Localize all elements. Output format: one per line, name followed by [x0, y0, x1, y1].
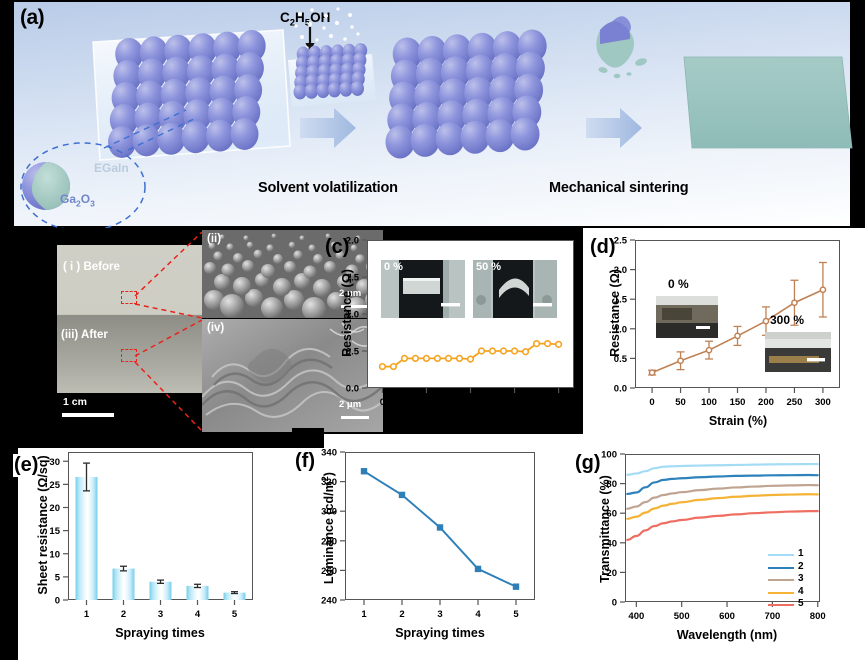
panel-f-data-point — [399, 492, 405, 498]
panel-c-data-point — [413, 356, 419, 362]
tick-label: 2.0 — [614, 265, 627, 276]
panel-c-data-point — [468, 356, 474, 362]
tick-label: 1.0 — [346, 310, 359, 321]
liquid-metal-droplet — [328, 82, 341, 97]
tick-label: 2.5 — [614, 236, 628, 247]
tick-label: 1 — [361, 609, 367, 620]
panel-c-data-point — [556, 342, 562, 348]
panel-f-graphics: 12345240260280300320340 — [290, 440, 575, 660]
panel-f-data-point — [361, 468, 367, 474]
panel-a-letter: (a) — [20, 6, 44, 30]
liquid-metal-droplet — [486, 119, 515, 152]
panel-g-graphics: 400500600700800020406080100 — [570, 440, 865, 660]
panel-c-data-point — [545, 341, 551, 347]
tick-label: 10 — [49, 549, 60, 560]
process-arrow-2 — [586, 108, 642, 148]
legend-swatch-3 — [768, 579, 794, 581]
panel-d-inset-label-0: 0 % — [668, 277, 689, 291]
panel-f-data-point — [513, 583, 519, 589]
panel-g-series-5 — [627, 511, 817, 540]
panel-d-data-point — [792, 300, 797, 305]
panel-d-inset-300pct — [765, 332, 831, 372]
tick-label: 3 — [158, 609, 163, 620]
liquid-metal-droplet — [351, 81, 364, 96]
tick-label: 0 — [380, 397, 385, 408]
liquid-metal-droplet — [182, 121, 210, 153]
legend-label-3: 3 — [798, 573, 804, 584]
tick-label: 6000 — [504, 397, 525, 408]
tick-label: 2.0 — [346, 236, 359, 247]
panel-d-graphics: 0501001502002503000.00.51.01.52.02.5 — [590, 228, 865, 434]
tick-label: 340 — [321, 448, 337, 459]
gao-o: O — [81, 192, 90, 206]
panel-c-data-point — [380, 364, 386, 370]
tick-label: 700 — [764, 611, 780, 622]
tick-label: 1.0 — [614, 324, 627, 335]
panel-a-caption-solvent: Solvent volatilization — [258, 180, 398, 196]
panel-d-strain-chart: (d) Resistance (Ω) Strain (%) 0501001502… — [590, 228, 865, 434]
liquid-metal-droplet — [206, 120, 234, 152]
liquid-metal-droplet — [340, 82, 353, 97]
final-conductive-film — [684, 57, 852, 148]
tick-label: 4 — [195, 609, 201, 620]
tick-label: 0 — [612, 598, 617, 609]
tick-label: 4 — [475, 609, 481, 620]
panel-g-transmittance-chart: (g) Transmittance (%) Wavelength (nm) 40… — [570, 440, 865, 660]
panel-g-series-1 — [627, 464, 817, 475]
tick-label: 25 — [49, 480, 60, 491]
panel-e-sheet-resistance-chart: (e) Sheet resistance (Ω/sq) Spraying tim… — [0, 440, 300, 660]
liquid-metal-droplet — [461, 121, 490, 154]
panel-c-data-point — [424, 356, 430, 362]
panel-c-bending-chart: (c) Resistance (Ω) Bending cycles 020004… — [325, 228, 590, 434]
tick-label: 30 — [49, 457, 60, 468]
tick-label: 2 — [121, 609, 126, 620]
tick-label: 15 — [49, 526, 60, 537]
process-arrow-1 — [300, 108, 356, 148]
panel-c-data-point — [435, 356, 441, 362]
tick-label: 0 — [649, 397, 654, 408]
panel-d-data-point — [735, 333, 740, 338]
panel-c-data-point — [490, 348, 496, 354]
tick-label: 500 — [674, 611, 690, 622]
tick-label: 320 — [321, 477, 337, 488]
panel-d-data-point — [649, 370, 654, 375]
panel-c-data-point — [446, 356, 452, 362]
tick-label: 0.5 — [614, 354, 628, 365]
panel-c-data-point — [523, 349, 529, 355]
panel-a-graphics — [0, 0, 865, 228]
panel-c-inset-0pct: 0 % — [381, 260, 465, 318]
liquid-metal-droplet — [157, 123, 185, 155]
tick-label: 5 — [232, 609, 238, 620]
tick-label: 280 — [321, 536, 337, 547]
tick-label: 20 — [606, 568, 617, 579]
panel-c-series-line — [382, 344, 558, 367]
tick-label: 150 — [730, 397, 746, 408]
egain-label: EGaIn — [94, 161, 129, 175]
tick-label: 5 — [513, 609, 519, 620]
tick-label: 0.0 — [346, 384, 359, 395]
legend-label-4: 4 — [798, 586, 804, 597]
stage-2-drying-film — [288, 43, 376, 107]
tick-label: 600 — [719, 611, 735, 622]
panel-e-graphics: 05101520253012345 — [0, 440, 300, 660]
tick-label: 300 — [321, 507, 337, 518]
panel-c-data-point — [534, 341, 540, 347]
panel-c-inset-label-50: 50 % — [476, 261, 501, 273]
gao-ga: Ga — [60, 192, 76, 206]
panel-c-graphics: 020004000600080000.00.51.01.52.0 — [325, 228, 590, 434]
panel-c-data-point — [512, 348, 518, 354]
panel-c-data-point — [501, 348, 507, 354]
stage-1-wet-film — [93, 30, 290, 160]
photo-scalebar — [62, 413, 114, 417]
tick-label: 240 — [321, 596, 337, 607]
tick-label: 250 — [787, 397, 803, 408]
tick-label: 400 — [628, 611, 644, 622]
legend-swatch-5 — [768, 604, 794, 606]
legend-label-1: 1 — [798, 548, 804, 559]
tick-label: 80 — [606, 479, 617, 490]
tick-label: 300 — [815, 397, 831, 408]
tick-label: 800 — [810, 611, 826, 622]
tick-label: 200 — [758, 397, 774, 408]
tick-label: 0.0 — [614, 384, 627, 395]
ruptured-droplet-icon — [596, 16, 647, 78]
liquid-metal-droplet — [305, 84, 318, 99]
photo-scalebar-label: 1 cm — [63, 396, 87, 408]
tick-label: 100 — [701, 397, 717, 408]
panel-d-data-point — [763, 319, 768, 324]
tick-label: 1.5 — [614, 295, 628, 306]
panel-f-luminance-chart: (f) Luminance (cd/m2) Spraying times 123… — [290, 440, 575, 660]
tick-label: 0 — [55, 596, 60, 607]
legend-swatch-2 — [768, 567, 794, 569]
panel-d-inset-label-300: 300 % — [770, 313, 804, 327]
liquid-metal-droplet — [317, 83, 330, 98]
panel-c-inset-label-0: 0 % — [384, 261, 403, 273]
tick-label: 40 — [606, 538, 617, 549]
panel-d-data-point — [706, 348, 711, 353]
tick-label: 20 — [49, 503, 60, 514]
tick-label: 4000 — [460, 397, 481, 408]
tick-label: 50 — [675, 397, 686, 408]
tick-label: 3 — [437, 609, 442, 620]
panel-e-bar — [113, 569, 135, 600]
liquid-metal-droplet — [294, 85, 307, 100]
gao-sub-3: 3 — [90, 198, 95, 208]
liquid-metal-droplet — [411, 124, 440, 157]
panel-f-data-point — [475, 566, 481, 572]
liquid-metal-droplet — [231, 118, 259, 150]
liquid-metal-droplet — [436, 122, 465, 155]
panel-e-bar — [76, 477, 98, 600]
legend-swatch-1 — [768, 554, 794, 556]
tick-label: 8000 — [548, 397, 569, 408]
tick-label: 2 — [399, 609, 404, 620]
stage-3-dry-array — [386, 30, 547, 159]
panel-c-data-point — [479, 348, 485, 354]
panel-d-inset-0pct — [656, 296, 718, 338]
tick-label: 0.5 — [346, 347, 360, 358]
panel-e-bar — [150, 582, 172, 600]
tick-label: 260 — [321, 566, 337, 577]
panel-a-caption-sintering: Mechanical sintering — [549, 180, 688, 196]
panel-c-data-point — [402, 356, 408, 362]
gallium-oxide-label: Ga2O3 — [60, 192, 95, 208]
legend-label-2: 2 — [798, 561, 804, 572]
tick-label: 5 — [55, 572, 61, 583]
liquid-metal-droplet — [133, 124, 161, 156]
tick-label: 2000 — [416, 397, 437, 408]
tick-label: 1.5 — [346, 273, 360, 284]
panel-c-data-point — [457, 356, 463, 362]
panel-a-schematic: C2H5OH — [0, 0, 865, 228]
legend-swatch-4 — [768, 592, 794, 594]
panel-c-data-point — [391, 364, 397, 370]
panel-d-data-point — [678, 358, 683, 363]
tick-label: 1 — [84, 609, 90, 620]
tick-label: 100 — [601, 450, 617, 461]
tick-label: 60 — [606, 509, 617, 520]
droplet-array-stage-1 — [108, 30, 266, 158]
panel-c-inset-50pct: 50 % — [473, 260, 557, 318]
liquid-metal-droplet — [511, 118, 540, 151]
liquid-metal-droplet — [386, 126, 415, 159]
panel-f-data-point — [437, 524, 443, 530]
legend-label-5: 5 — [798, 598, 804, 609]
panel-d-data-point — [820, 287, 825, 292]
